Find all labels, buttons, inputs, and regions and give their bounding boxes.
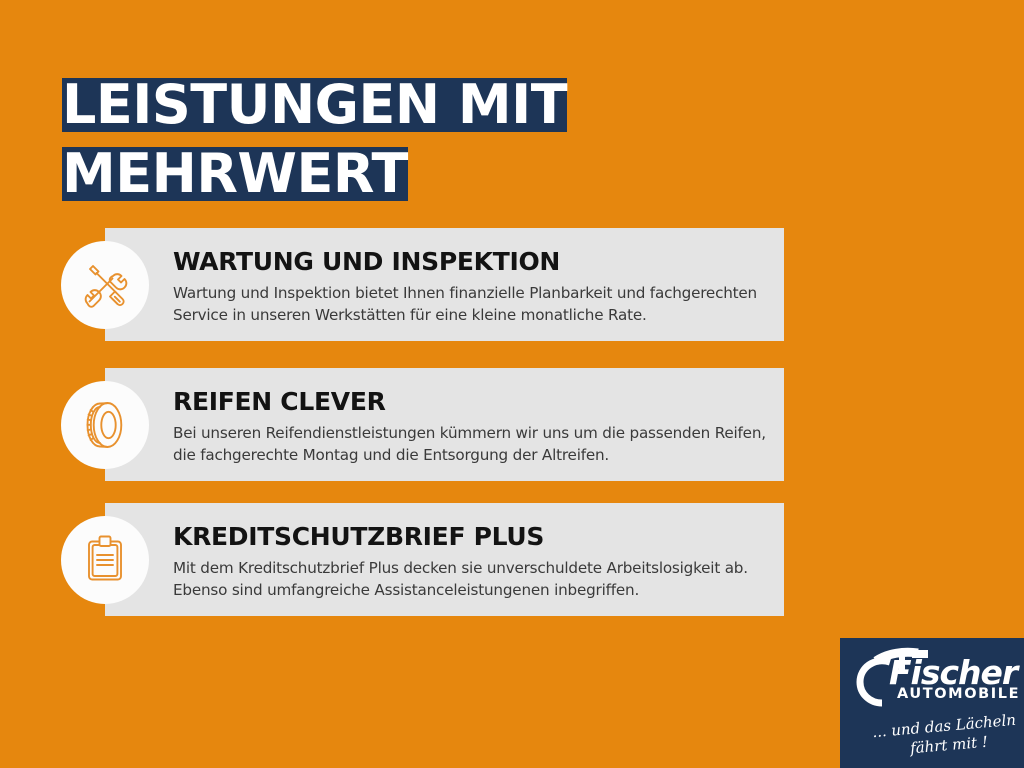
- service-card-reifen-clever[interactable]: REIFEN CLEVER Bei unseren Reifendienstle…: [105, 368, 784, 481]
- card-body-line-1: Mit dem Kreditschutzbrief Plus decken si…: [173, 557, 764, 579]
- company-logo[interactable]: Fischer AUTOMOBILE ... und das Lächeln f…: [840, 638, 1024, 768]
- card-body-line-1: Wartung und Inspektion bietet Ihnen fina…: [173, 282, 764, 304]
- card-body-line-1: Bei unseren Reifendienstleistungen kümme…: [173, 422, 764, 444]
- service-card-wartung-und-inspektion[interactable]: WARTUNG UND INSPEKTION Wartung und Inspe…: [105, 228, 784, 341]
- tools-icon: [61, 241, 149, 329]
- clipboard-icon: [61, 516, 149, 604]
- slide-canvas: LEISTUNGEN MIT MEHRWERT WARTUNG UND INSP…: [0, 0, 1024, 768]
- card-body-line-2: Ebenso sind umfangreiche Assistanceleist…: [173, 579, 764, 601]
- card-heading: WARTUNG UND INSPEKTION: [173, 248, 764, 276]
- card-body-line-2: Service in unseren Werkstätten für eine …: [173, 304, 764, 326]
- card-body-line-2: die fachgerechte Montag und die Entsorgu…: [173, 444, 764, 466]
- card-body: Mit dem Kreditschutzbrief Plus decken si…: [173, 557, 764, 601]
- card-body: Wartung und Inspektion bietet Ihnen fina…: [173, 282, 764, 326]
- tire-icon: [61, 381, 149, 469]
- page-title-line-2: MEHRWERT: [48, 131, 422, 218]
- logo-subtext: AUTOMOBILE: [897, 687, 1020, 702]
- card-body: Bei unseren Reifendienstleistungen kümme…: [173, 422, 764, 466]
- page-title-text-2: MEHRWERT: [62, 147, 408, 201]
- service-card-kreditschutzbrief-plus[interactable]: KREDITSCHUTZBRIEF PLUS Mit dem Kreditsch…: [105, 503, 784, 616]
- page-title-text-1: LEISTUNGEN MIT: [62, 78, 567, 132]
- logo-wordmark: Fischer: [889, 656, 1017, 689]
- card-heading: KREDITSCHUTZBRIEF PLUS: [173, 523, 764, 551]
- card-heading: REIFEN CLEVER: [173, 388, 764, 416]
